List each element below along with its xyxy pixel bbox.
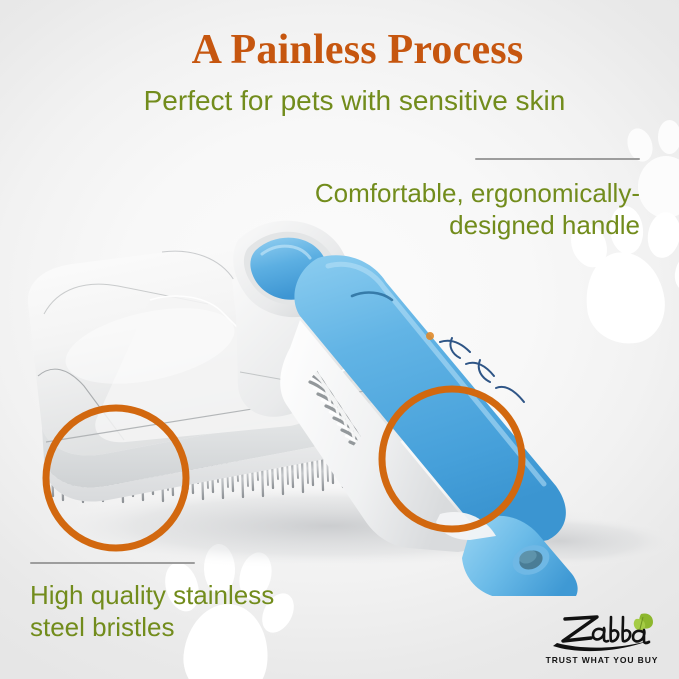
callout-handle-text: Comfortable, ergonomically- designed han… [240, 178, 640, 241]
logo-tagline: TRUST WHAT YOU BUY [543, 655, 661, 665]
callout-handle: Comfortable, ergonomically- designed han… [240, 158, 640, 241]
product-image [0, 196, 679, 596]
callout-bristles-rule [30, 562, 195, 564]
callout-handle-rule [475, 158, 640, 160]
callout-bristles-text: High quality stainless steel bristles [30, 580, 360, 643]
brand-logo: TRUST WHAT YOU BUY [543, 610, 661, 665]
zabba-wordmark-icon [543, 610, 661, 654]
product-marketing-image: A Painless Process Perfect for pets with… [0, 0, 679, 679]
page-subheadline: Perfect for pets with sensitive skin [0, 85, 679, 117]
page-headline: A Painless Process [0, 26, 679, 74]
leaf-icon [634, 613, 653, 630]
callout-bristles: High quality stainless steel bristles [30, 562, 360, 643]
